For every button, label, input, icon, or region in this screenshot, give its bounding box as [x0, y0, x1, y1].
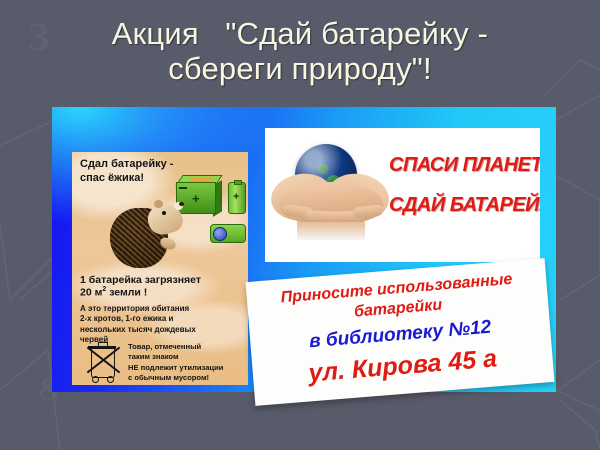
battery-plus-label: +	[192, 192, 200, 205]
poster-save-the-planet: СПАСИ ПЛАНЕТУ - СДАЙ БАТАРЕЙКУ	[265, 128, 540, 262]
hedgehog-icon	[110, 198, 184, 270]
warning-line-4: с обычным мусором!	[128, 373, 246, 383]
warning-line-3: НЕ подлежит утилизации	[128, 363, 246, 373]
save-planet-line-1: СПАСИ ПЛАНЕТУ -	[389, 154, 540, 177]
bin-wheel-left	[92, 376, 99, 383]
statistic-line-2: 20 м2 земли !	[80, 286, 240, 299]
title-line-1: Акция "Сдай батарейку -	[0, 16, 600, 51]
detail-line-3: нескольких тысяч дождевых	[80, 325, 240, 335]
statistic-area-suffix: земли !	[106, 287, 147, 299]
poster-hedgehog-warning: Товар, отмеченный таким знаком НЕ подлеж…	[128, 342, 246, 384]
poster-hedgehog-heading-line-1: Сдал батарейку -	[80, 158, 220, 172]
poster-hedgehog: Сдал батарейку - спас ёжика! + +	[72, 152, 248, 385]
battery-cell-upright-icon: +	[228, 182, 246, 214]
statistic-area-prefix: 20 м	[80, 287, 102, 299]
statistic-line-1: 1 батарейка загрязняет	[80, 274, 240, 286]
wrists	[297, 222, 365, 240]
warning-line-2: таким знаком	[128, 352, 246, 362]
title-line-2: сбереги природу"!	[0, 51, 600, 86]
page-title: Акция "Сдай батарейку - сбереги природу"…	[0, 16, 600, 87]
finger-4	[352, 204, 383, 219]
battery-cell-plus-label: +	[233, 192, 239, 203]
detail-line-2: 2-х кротов, 1-го ежика и	[80, 314, 240, 324]
battery-cell-lying-icon	[210, 224, 246, 243]
bin-wheel-right	[107, 376, 114, 383]
battery-minus-icon	[179, 187, 187, 189]
hedgehog-ear	[154, 200, 163, 208]
crossed-out-wheelie-bin-icon	[84, 340, 122, 380]
battery-cap-icon	[234, 180, 242, 185]
hedgehog-eye	[162, 211, 166, 215]
detail-line-1: А это территория обитания	[80, 304, 240, 314]
save-planet-line-2: СДАЙ БАТАРЕЙКУ	[389, 194, 540, 217]
warning-line-1: Товар, отмеченный	[128, 342, 246, 352]
poster-hedgehog-statistic: 1 батарейка загрязняет 20 м2 земли !	[80, 274, 240, 299]
hedgehog-nose	[179, 202, 184, 206]
content-panel: Сдал батарейку - спас ёжика! + +	[52, 107, 556, 392]
cupped-hands-icon	[271, 172, 391, 238]
library-dropoff-sign: Приносите использованные батарейки в биб…	[246, 258, 555, 406]
battery-disc-icon	[213, 227, 227, 241]
